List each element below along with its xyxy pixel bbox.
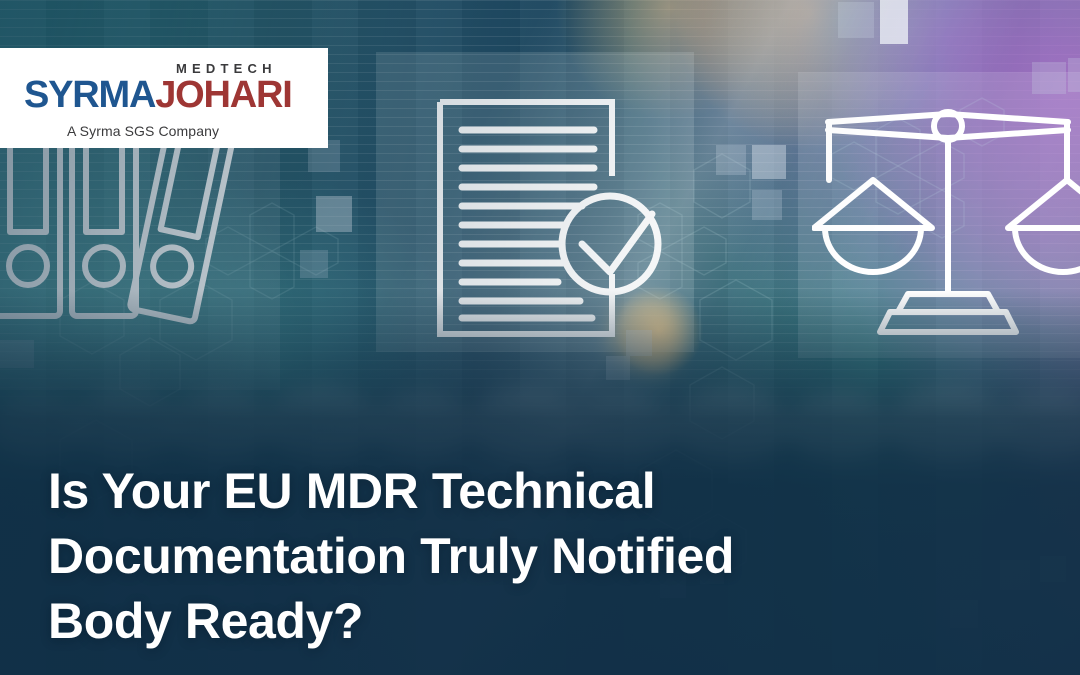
logo-brand-primary: SYRMA [24, 74, 155, 116]
headline-title: Is Your EU MDR Technical Documentation T… [48, 459, 998, 654]
document-check-icon [430, 96, 680, 346]
logo-brand-secondary: JOHARI [155, 74, 291, 116]
company-logo: MEDTECH SYRMAJOHARI A Syrma SGS Company [0, 48, 328, 148]
logo-wordmark: SYRMAJOHARI [24, 76, 292, 114]
logo-tagline: A Syrma SGS Company [67, 124, 219, 138]
headline-line-2: Documentation Truly Notified [48, 524, 998, 589]
headline-line-1: Is Your EU MDR Technical [48, 459, 998, 524]
promotional-banner: MEDTECH SYRMAJOHARI A Syrma SGS Company … [0, 0, 1080, 675]
headline-line-3: Body Ready? [48, 589, 998, 654]
binders-icon [0, 136, 280, 376]
scales-icon [812, 104, 1080, 340]
